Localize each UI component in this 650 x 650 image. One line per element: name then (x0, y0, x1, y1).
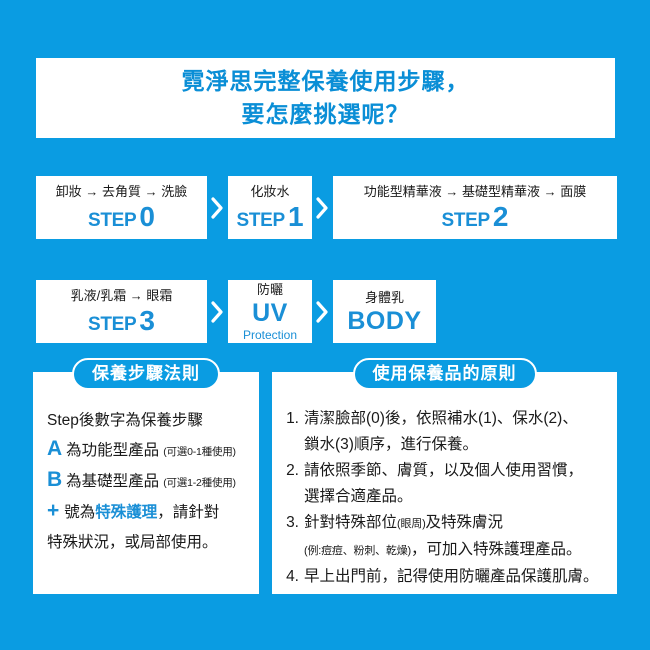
step-box-2-number: 2 (493, 203, 509, 231)
step-box-0-word: STEP (88, 210, 136, 232)
chevron-right-icon (312, 176, 333, 239)
rule-line-plus-before: 號為 (64, 498, 95, 528)
panel-usage-principles: 使用保養品的原則 1. 清潔臉部(0)後，依照補水(1)、保水(2)、 鎖水(3… (272, 372, 617, 594)
step-box-0[interactable]: 卸妝 → 去角質 → 洗臉 STEP 0 (36, 176, 207, 239)
rule-line-a-text: 為功能型產品 (66, 436, 159, 466)
step-box-1-description: 化妝水 (250, 184, 289, 200)
panel-usage-principles-body: 1. 清潔臉部(0)後，依照補水(1)、保水(2)、 鎖水(3)順序，進行保養。… (272, 372, 617, 590)
list-item-4-text: 早上出門前，記得使用防曬產品保護肌膚。 (304, 564, 607, 590)
panel-skincare-rules-heading: 保養步驟法則 (72, 358, 220, 390)
step-box-1-label: STEP 1 (237, 203, 304, 232)
chevron-right-icon (312, 280, 333, 343)
list-item-4-number: 4. (284, 564, 304, 590)
rule-line-b-hint: (可選1-2種使用) (163, 468, 236, 498)
step-box-3-label: STEP 3 (88, 307, 155, 336)
step-box-0-description: 卸妝 → 去角質 → 洗臉 (56, 184, 187, 200)
rule-line-plus-highlight: 特殊護理 (95, 498, 157, 528)
rule-marker-b: B (47, 469, 62, 490)
list-item-1-text: 清潔臉部(0)後，依照補水(1)、保水(2)、 鎖水(3)順序，進行保養。 (304, 406, 607, 458)
step-box-2-word: STEP (441, 210, 489, 232)
rule-line-a-hint: (可選0-1種使用) (163, 437, 236, 467)
list-item: 3. 針對特殊部位(眼周)及特殊膚況 (例:痘痘、粉刺、乾燥)，可加入特殊護理產… (284, 510, 607, 564)
step-box-3-description: 乳液/乳霜 → 眼霜 (71, 288, 173, 304)
rule-line-plus: + 號為 特殊護理 ，請針對 (47, 498, 247, 528)
list-item-4-line-1: 早上出門前，記得使用防曬產品保護肌膚。 (304, 568, 599, 585)
rule-line-step: Step後數字為保養步驟 (47, 406, 247, 436)
chevron-right-icon (207, 280, 228, 343)
step-box-uv-sublabel: Protection (243, 329, 297, 341)
panel-skincare-rules-body: Step後數字為保養步驟 A 為功能型產品 (可選0-1種使用) B 為基礎型產… (33, 372, 259, 558)
step-row-1: 卸妝 → 去角質 → 洗臉 STEP 0 化妝水 STEP 1 功能型精華液 (36, 176, 617, 239)
step-box-2-description: 功能型精華液 → 基礎型精華液 → 面膜 (364, 184, 586, 200)
principles-list: 1. 清潔臉部(0)後，依照補水(1)、保水(2)、 鎖水(3)順序，進行保養。… (284, 406, 607, 590)
list-item-3-line-2-note: (例:痘痘、粉刺、乾燥) (304, 545, 411, 557)
list-item-2-line-1: 請依照季節、膚質，以及個人使用習慣， (304, 462, 583, 479)
rule-marker-a: A (47, 438, 62, 459)
step-box-2-label: STEP 2 (441, 203, 508, 232)
chevron-right-icon (207, 176, 228, 239)
step-box-1-number: 1 (288, 203, 304, 231)
step-box-3[interactable]: 乳液/乳霜 → 眼霜 STEP 3 (36, 280, 207, 343)
step-row-2: 乳液/乳霜 → 眼霜 STEP 3 防曬 UV Protection 身體乳 B… (36, 280, 436, 343)
list-item: 2. 請依照季節、膚質，以及個人使用習慣， 選擇合適產品。 (284, 458, 607, 510)
list-item-1-number: 1. (284, 406, 304, 432)
panel-usage-principles-heading: 使用保養品的原則 (353, 358, 537, 390)
step-box-body[interactable]: 身體乳 BODY (333, 280, 436, 343)
list-item-2-text: 請依照季節、膚質，以及個人使用習慣， 選擇合適產品。 (304, 458, 607, 510)
step-box-3-number: 3 (139, 307, 155, 335)
panel-skincare-rules: 保養步驟法則 Step後數字為保養步驟 A 為功能型產品 (可選0-1種使用) … (33, 372, 259, 594)
list-item-2-number: 2. (284, 458, 304, 484)
rule-line-plus-cont-text: 特殊狀況，或局部使用。 (47, 528, 218, 558)
step-box-2[interactable]: 功能型精華液 → 基礎型精華液 → 面膜 STEP 2 (333, 176, 617, 239)
list-item-3-line-1-a: 針對特殊部位 (304, 514, 397, 531)
step-box-body-description: 身體乳 (365, 290, 404, 306)
step-box-body-label: BODY (347, 309, 421, 334)
list-item: 4. 早上出門前，記得使用防曬產品保護肌膚。 (284, 564, 607, 590)
infographic-canvas: 霓淨思完整保養使用步驟， 要怎麼挑選呢？ 卸妝 → 去角質 → 洗臉 STEP … (0, 0, 650, 650)
rule-line-a: A 為功能型產品 (可選0-1種使用) (47, 436, 247, 467)
list-item-1-line-1: 清潔臉部(0)後，依照補水(1)、保水(2)、 (304, 410, 578, 427)
list-item-3-number: 3. (284, 510, 304, 536)
page-title-line-2: 要怎麼挑選呢？ (242, 98, 410, 131)
list-item-1-line-2: 鎖水(3)順序，進行保養。 (304, 436, 478, 453)
list-item-3-text: 針對特殊部位(眼周)及特殊膚況 (例:痘痘、粉刺、乾燥)，可加入特殊護理產品。 (304, 510, 607, 564)
step-box-uv-label: UV (252, 301, 288, 326)
rule-line-b: B 為基礎型產品 (可選1-2種使用) (47, 467, 247, 498)
title-card: 霓淨思完整保養使用步驟， 要怎麼挑選呢？ (36, 58, 615, 138)
rule-line-b-text: 為基礎型產品 (66, 467, 159, 497)
step-box-1[interactable]: 化妝水 STEP 1 (228, 176, 312, 239)
list-item-3-line-2-b: ，可加入特殊護理產品。 (411, 541, 582, 558)
step-box-uv[interactable]: 防曬 UV Protection (228, 280, 312, 343)
rule-line-plus-cont: 特殊狀況，或局部使用。 (47, 528, 247, 558)
rule-line-step-text: Step後數字為保養步驟 (47, 406, 203, 436)
step-box-uv-description: 防曬 (257, 282, 283, 298)
page-title-line-1: 霓淨思完整保養使用步驟， (182, 65, 470, 98)
rule-marker-plus: + (47, 500, 59, 521)
list-item-2-line-2: 選擇合適產品。 (304, 488, 413, 505)
list-item-3-line-1-note: (眼周) (397, 518, 426, 530)
list-item-3-line-1-b: 及特殊膚況 (426, 514, 504, 531)
step-box-1-word: STEP (237, 210, 285, 232)
step-box-3-word: STEP (88, 314, 136, 336)
step-box-0-number: 0 (139, 203, 155, 231)
step-box-0-label: STEP 0 (88, 203, 155, 232)
list-item: 1. 清潔臉部(0)後，依照補水(1)、保水(2)、 鎖水(3)順序，進行保養。 (284, 406, 607, 458)
rule-line-plus-after: ，請針對 (157, 498, 219, 528)
